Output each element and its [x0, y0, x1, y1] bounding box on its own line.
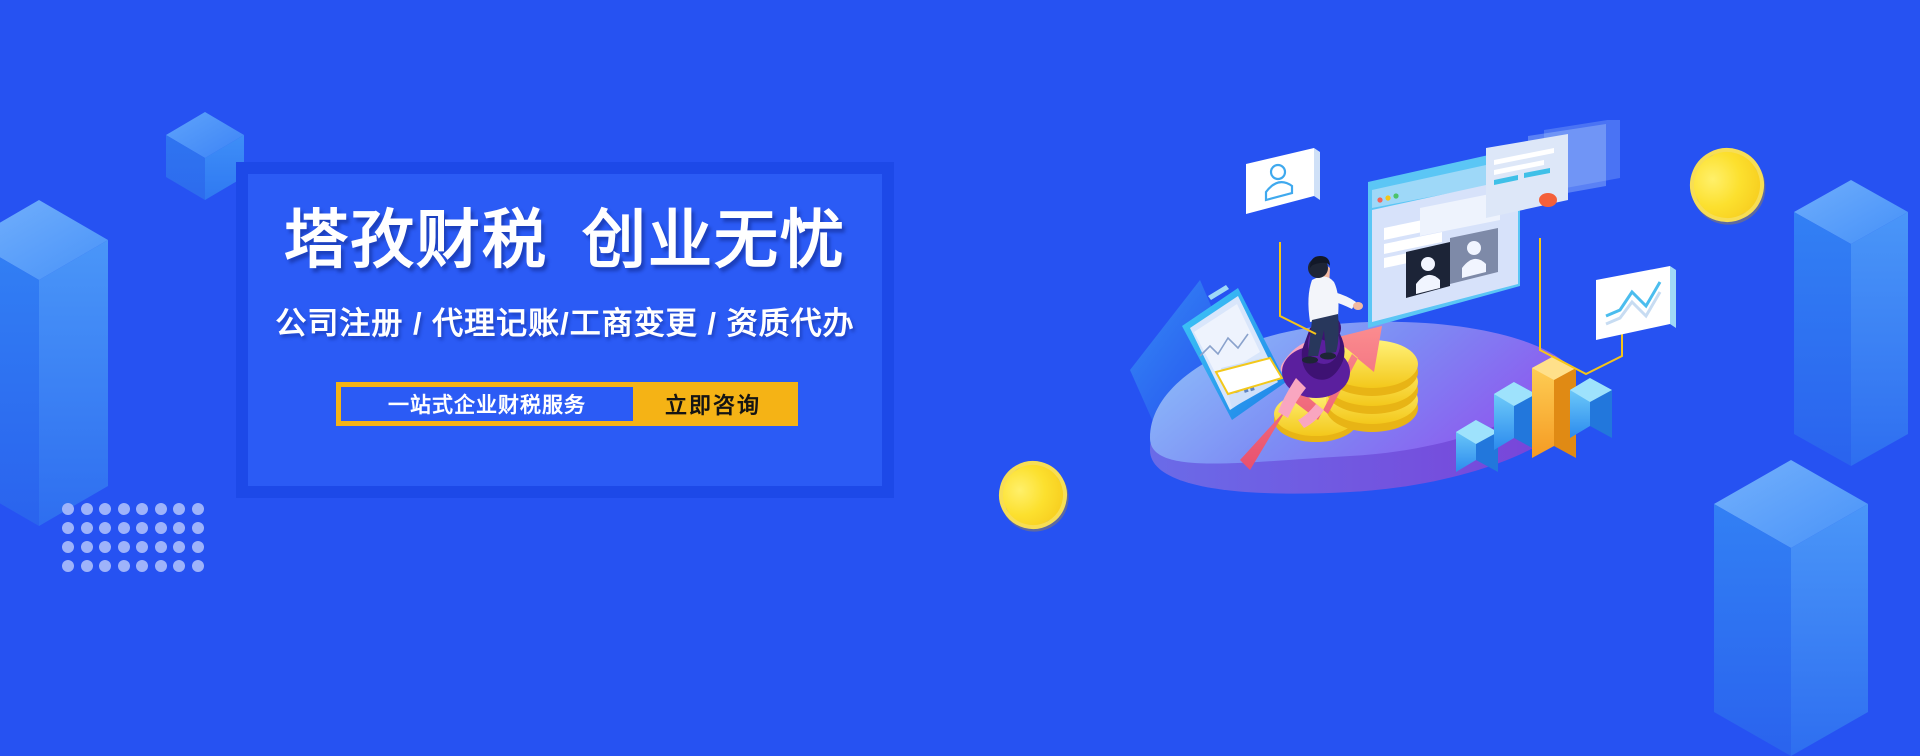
- page-title: 塔孜财税创业无忧: [248, 208, 882, 272]
- slogan: 创业无忧: [582, 204, 846, 276]
- headline-frame: 塔孜财税创业无忧 公司注册 / 代理记账/工商变更 / 资质代办 一站式企业财税…: [236, 162, 894, 498]
- consult-now-button[interactable]: 立即咨询: [633, 388, 793, 420]
- cta-bar[interactable]: 一站式企业财税服务 立即咨询: [336, 382, 798, 426]
- banner-stage: 塔孜财税创业无忧 公司注册 / 代理记账/工商变更 / 资质代办 一站式企业财税…: [0, 0, 1920, 756]
- cube-left-tall-icon: [0, 198, 110, 528]
- cta-tag-label: 一站式企业财税服务: [341, 387, 633, 421]
- cube-right-tall-icon: [1792, 178, 1910, 468]
- coin-top-right-icon: [1677, 135, 1777, 235]
- brand-name: 塔孜财税: [284, 204, 548, 276]
- dot-grid-decoration: [62, 503, 210, 579]
- service-list: 公司注册 / 代理记账/工商变更 / 资质代办: [248, 308, 882, 339]
- coin-near-cta-icon: [987, 449, 1080, 542]
- cube-right-lower-icon: [1712, 458, 1870, 756]
- isometric-illustration: [1120, 120, 1680, 540]
- headline-frame-inner: 塔孜财税创业无忧 公司注册 / 代理记账/工商变更 / 资质代办 一站式企业财税…: [248, 174, 882, 486]
